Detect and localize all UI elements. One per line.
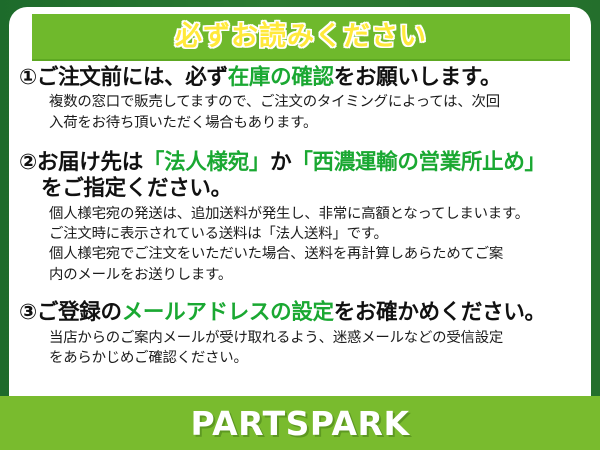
- brand-logo: PARTSPARK: [190, 404, 409, 443]
- notice-panel: 必ずお読みください ①ご注文前には、必ず在庫の確認をお願いします。 複数の窓口で…: [9, 7, 591, 403]
- notice-item-2-body: 個人様宅宛の発送は、追加送料が発生し、非常に高額となってしまいます。 ご注文時に…: [19, 204, 583, 286]
- notice-item-2-head-before: お届け先は: [37, 150, 143, 175]
- notice-item-1-head-before: ご注文前には、必ず: [37, 65, 228, 90]
- notice-item-1-marker: ①: [19, 65, 37, 90]
- notice-item-2-highlight-corporate: 「法人様宛」: [143, 150, 270, 175]
- notice-frame: 必ずお読みください ①ご注文前には、必ず在庫の確認をお願いします。 複数の窓口で…: [0, 0, 600, 450]
- notice-item-2-highlight-depot: 「西濃運輸の営業所止め」: [291, 150, 545, 175]
- header-title: 必ずお読みください: [175, 23, 427, 50]
- body-line: 個人様宅宛の発送は、追加送料が発生し、非常に高額となってしまいます。: [49, 204, 583, 224]
- body-line: 内のメールをお送りします。: [49, 265, 583, 285]
- notice-item-3-head-before: ご登録の: [37, 300, 122, 325]
- notice-item-1: ①ご注文前には、必ず在庫の確認をお願いします。 複数の窓口で販売してますので、ご…: [9, 65, 591, 133]
- body-line: 当店からのご案内メールが受け取れるよう、迷惑メールなどの受信設定: [49, 328, 583, 348]
- notice-item-2-heading: ②お届け先は「法人様宛」か「西濃運輸の営業所止め」 をご指定ください。: [19, 150, 583, 202]
- notice-item-2-marker: ②: [19, 150, 37, 175]
- notice-item-3-body: 当店からのご案内メールが受け取れるよう、迷惑メールなどの受信設定 をあらかじめご…: [19, 328, 583, 369]
- notice-item-2-head-middle: か: [270, 150, 291, 175]
- notice-item-1-highlight: 在庫の確認: [228, 65, 334, 90]
- notice-sections: ①ご注文前には、必ず在庫の確認をお願いします。 複数の窓口で販売してますので、ご…: [9, 65, 591, 369]
- notice-item-1-head-after: をお願いします。: [334, 65, 501, 90]
- notice-item-3-heading: ③ご登録のメールアドレスの設定をお確かめください。: [19, 300, 583, 326]
- notice-item-2-heading-line2: をご指定ください。: [19, 176, 583, 202]
- notice-item-2: ②お届け先は「法人様宛」か「西濃運輸の営業所止め」 をご指定ください。 個人様宅…: [9, 150, 591, 285]
- body-line: 複数の窓口で販売してますので、ご注文のタイミングによっては、次回: [49, 92, 583, 112]
- notice-item-3-head-after: をお確かめください。: [334, 300, 546, 325]
- notice-item-3-marker: ③: [19, 300, 37, 325]
- body-line: ご注文時に表示されている送料は「法人送料」です。: [49, 224, 583, 244]
- notice-item-3-highlight: メールアドレスの設定: [122, 300, 334, 325]
- body-line: をあらかじめご確認ください。: [49, 348, 583, 368]
- notice-item-3: ③ご登録のメールアドレスの設定をお確かめください。 当店からのご案内メールが受け…: [9, 300, 591, 368]
- header-banner: 必ずお読みください: [32, 14, 570, 61]
- notice-item-1-heading: ①ご注文前には、必ず在庫の確認をお願いします。: [19, 65, 583, 91]
- body-line: 入荷をお待ち頂いただく場合もあります。: [49, 113, 583, 133]
- body-line: 個人様宅宛でご注文をいただいた場合、送料を再計算しあらためてご案: [49, 244, 583, 264]
- notice-item-1-body: 複数の窓口で販売してますので、ご注文のタイミングによっては、次回 入荷をお待ち頂…: [19, 92, 583, 133]
- footer-brand-band: PARTSPARK: [0, 396, 600, 450]
